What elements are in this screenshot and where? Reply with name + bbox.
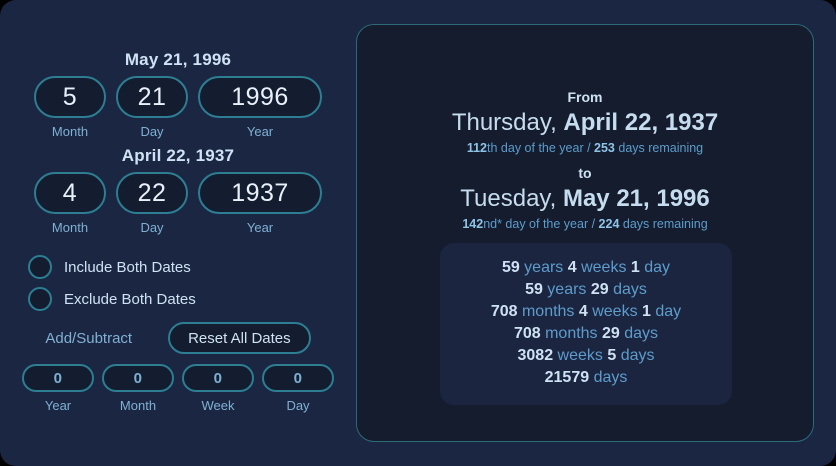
date-1-day-input[interactable]: 21 [116,76,188,118]
result-unit: weeks [577,259,631,276]
to-remaining: 224 [599,217,620,231]
delta-day-input[interactable]: 0 [262,364,334,392]
result-number: 59 [525,281,543,298]
result-row: 59 years 4 weeks 1 day [440,257,732,279]
date-2-day-input[interactable]: 22 [116,172,188,214]
date-1-day-field: 21 Day [116,76,188,139]
from-remaining: 253 [594,141,615,155]
result-unit: years [543,281,591,298]
to-day-of-year: 142nd* day of the year / 224 days remain… [357,215,813,233]
to-weekday: Tuesday, [460,185,556,212]
result-number: 4 [568,259,577,276]
result-unit: days [609,281,647,298]
delta-week-field: 0 Week [182,364,254,413]
date-1-year-label: Year [247,124,273,139]
result-unit: months [518,303,579,320]
from-datepart: April 22, 1937 [563,109,718,136]
to-datepart: May 21, 1996 [563,185,710,212]
result-number: 1 [631,259,640,276]
result-row: 708 months 29 days [440,323,732,345]
result-unit: weeks [553,347,607,364]
result-number: 5 [607,347,616,364]
to-date: Tuesday, May 21, 1996 [357,183,813,215]
date-1-year-field: 1996 Year [198,76,322,139]
delta-month-field: 0 Month [102,364,174,413]
delta-year-input[interactable]: 0 [22,364,94,392]
date-1-fields: 5 Month 21 Day 1996 Year [0,76,356,139]
results-panel: From Thursday, April 22, 1937 112th day … [356,24,814,442]
from-day-of-year: 112th day of the year / 253 days remaini… [357,139,813,157]
result-row: 3082 weeks 5 days [440,345,732,367]
date-1-heading: May 21, 1996 [0,50,356,70]
result-number: 21579 [545,369,590,386]
result-number: 3082 [518,347,554,364]
delta-year-label: Year [45,398,71,413]
delta-week-input[interactable]: 0 [182,364,254,392]
date-input-pane: May 21, 1996 5 Month 21 Day 1996 Year Ap… [0,0,356,466]
result-unit: years [520,259,568,276]
delta-month-label: Month [120,398,156,413]
to-remaining-suffix: days remaining [619,217,707,231]
result-row: 21579 days [440,367,732,389]
result-number: 59 [502,259,520,276]
delta-day-label: Day [286,398,309,413]
delta-month-input[interactable]: 0 [102,364,174,392]
date-1-month-field: 5 Month [34,76,106,139]
option-include-both-dates-label: Include Both Dates [64,259,191,276]
result-unit: weeks [588,303,642,320]
add-subtract-row: Add/Subtract Reset All Dates [0,322,356,354]
result-number: 1 [642,303,651,320]
result-number: 4 [579,303,588,320]
result-row: 708 months 4 weeks 1 day [440,301,732,323]
option-exclude-both-dates-label: Exclude Both Dates [64,291,196,308]
result-number: 708 [514,325,541,342]
from-ordinal-suffix: th day of the year / [487,141,594,155]
delta-day-field: 0 Day [262,364,334,413]
date-2-fields: 4 Month 22 Day 1937 Year [0,172,356,235]
reset-all-dates-button[interactable]: Reset All Dates [168,322,311,354]
from-block: From Thursday, April 22, 1937 112th day … [357,87,813,157]
date-2-year-field: 1937 Year [198,172,322,235]
from-date: Thursday, April 22, 1937 [357,107,813,139]
from-label: From [357,87,813,107]
inclusion-options: Include Both Dates Exclude Both Dates [28,252,196,316]
delta-fields: 0 Year 0 Month 0 Week 0 Day [0,364,356,413]
radio-icon[interactable] [28,255,52,279]
date-duration-calculator: May 21, 1996 5 Month 21 Day 1996 Year Ap… [0,0,836,466]
date-2-month-label: Month [52,220,88,235]
option-exclude-both-dates[interactable]: Exclude Both Dates [28,284,196,314]
date-2-year-input[interactable]: 1937 [198,172,322,214]
date-2-day-field: 22 Day [116,172,188,235]
delta-year-field: 0 Year [22,364,94,413]
to-ordinal: 142 [462,217,483,231]
from-weekday: Thursday, [452,109,557,136]
date-2-year-label: Year [247,220,273,235]
to-label: to [357,163,813,183]
result-unit: days [589,369,627,386]
from-remaining-suffix: days remaining [615,141,703,155]
date-2-day-label: Day [140,220,163,235]
to-ordinal-suffix: nd* day of the year / [483,217,598,231]
result-unit: months [541,325,602,342]
add-subtract-label: Add/Subtract [45,330,132,347]
to-block: to Tuesday, May 21, 1996 142nd* day of t… [357,163,813,233]
radio-icon[interactable] [28,287,52,311]
result-unit: days [620,325,658,342]
date-2-month-input[interactable]: 4 [34,172,106,214]
date-2-month-field: 4 Month [34,172,106,235]
date-1-month-label: Month [52,124,88,139]
from-ordinal: 112 [467,141,487,155]
result-number: 29 [591,281,609,298]
date-1-day-label: Day [140,124,163,139]
result-row: 59 years 29 days [440,279,732,301]
date-2-heading: April 22, 1937 [0,146,356,166]
result-number: 708 [491,303,518,320]
date-1-month-input[interactable]: 5 [34,76,106,118]
date-1-year-input[interactable]: 1996 [198,76,322,118]
result-unit: days [616,347,654,364]
result-unit: day [651,303,681,320]
option-include-both-dates[interactable]: Include Both Dates [28,252,196,282]
result-number: 29 [602,325,620,342]
result-unit: day [640,259,670,276]
delta-week-label: Week [202,398,235,413]
duration-results: 59 years 4 weeks 1 day 59 years 29 days … [440,243,732,405]
